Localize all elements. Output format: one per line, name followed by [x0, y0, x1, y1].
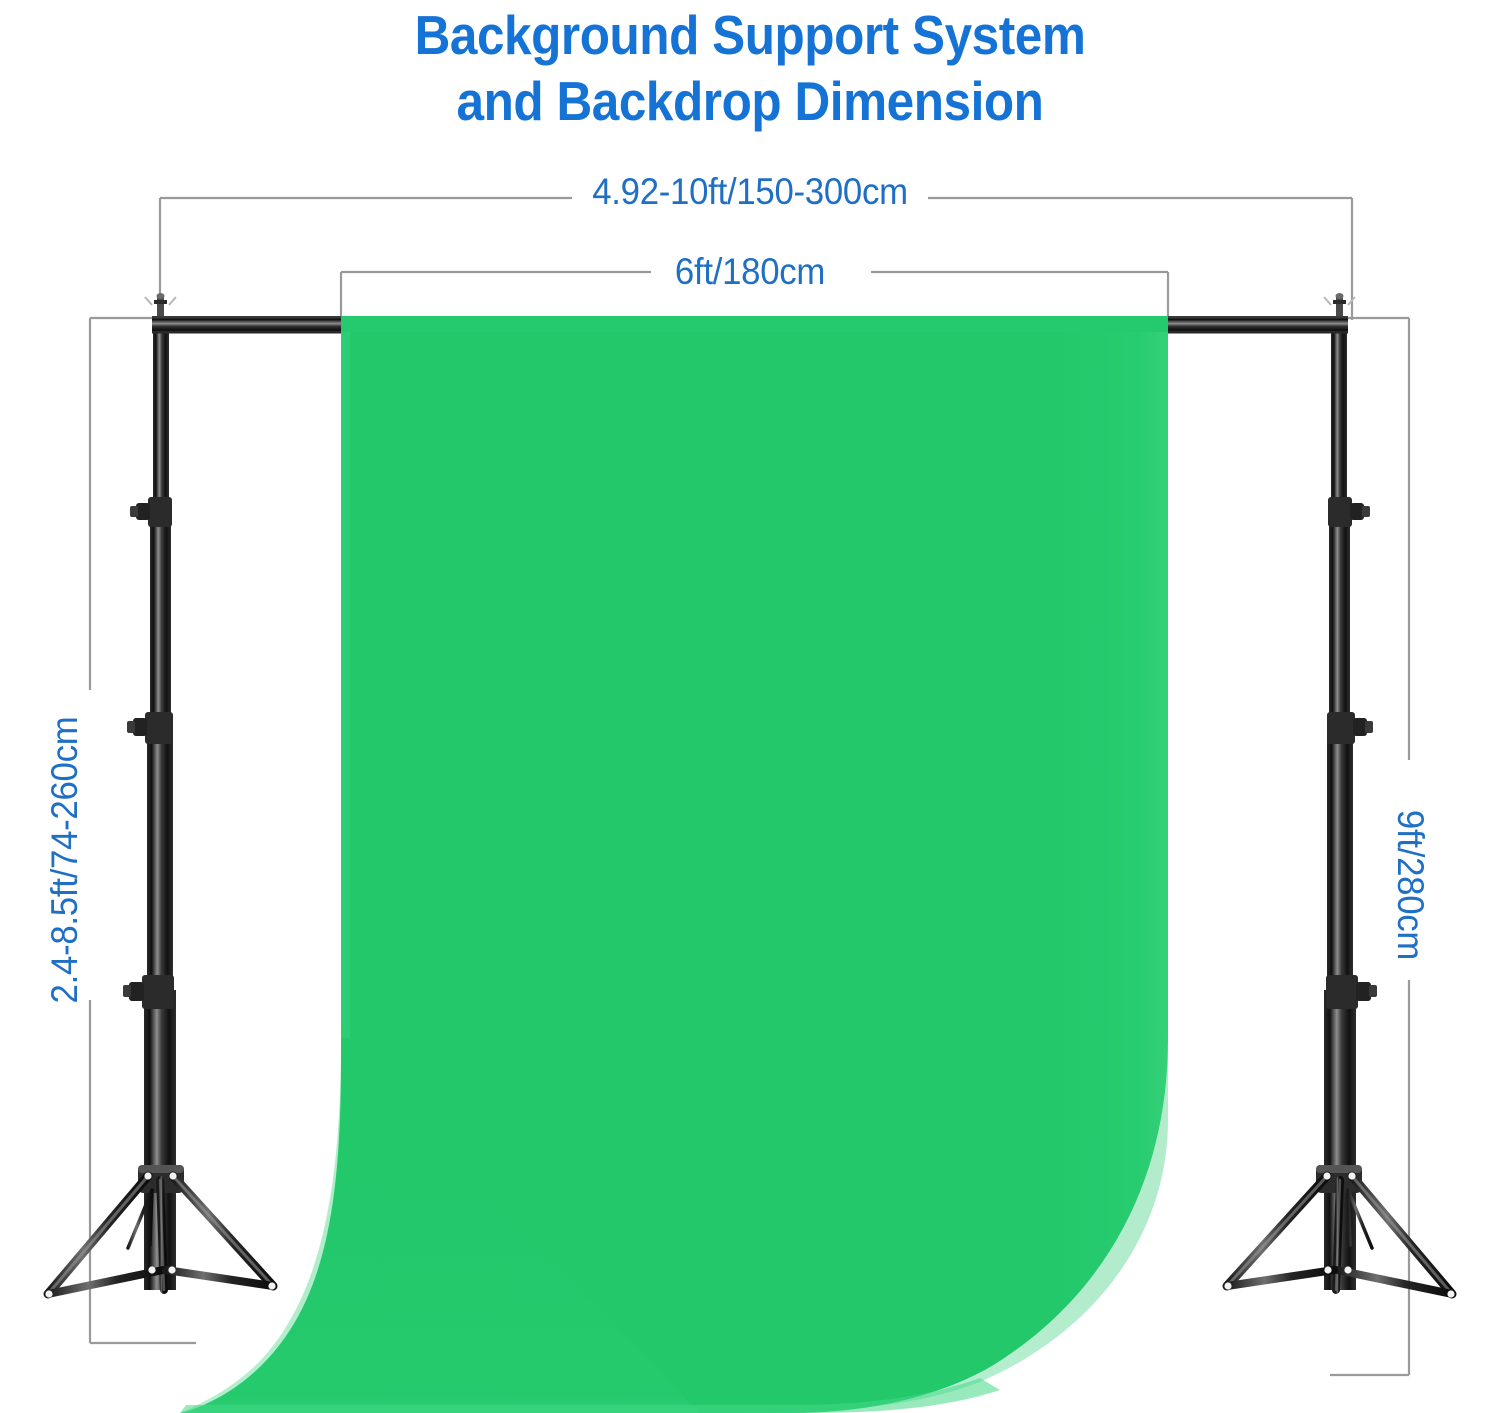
- right-tripod-legs: [1227, 1176, 1452, 1294]
- left-post-lower: [147, 735, 173, 1005]
- left-spigot: [145, 293, 176, 318]
- backdrop-right-edge-highlight: [1156, 318, 1168, 1038]
- green-screen-backdrop: [180, 316, 1168, 1413]
- left-post-upper: [153, 316, 169, 516]
- dimension-label-backdrop-height: 9ft/280cm: [1390, 725, 1430, 1045]
- right-post-lower: [1327, 735, 1353, 1005]
- backdrop-left-edge-highlight: [341, 318, 350, 1038]
- diagram-canvas: Background Support System and Backdrop D…: [0, 0, 1500, 1413]
- right-post-upper: [1331, 316, 1347, 516]
- dimension-label-total-width: 4.92-10ft/150-300cm: [45, 172, 1455, 212]
- right-spigot: [1324, 293, 1355, 318]
- dimension-label-stand-height: 2.4-8.5ft/74-260cm: [45, 597, 85, 1123]
- backdrop-top-edge: [341, 316, 1168, 332]
- left-tripod-legs: [48, 1176, 273, 1294]
- dimension-label-backdrop-width: 6ft/180cm: [45, 252, 1455, 292]
